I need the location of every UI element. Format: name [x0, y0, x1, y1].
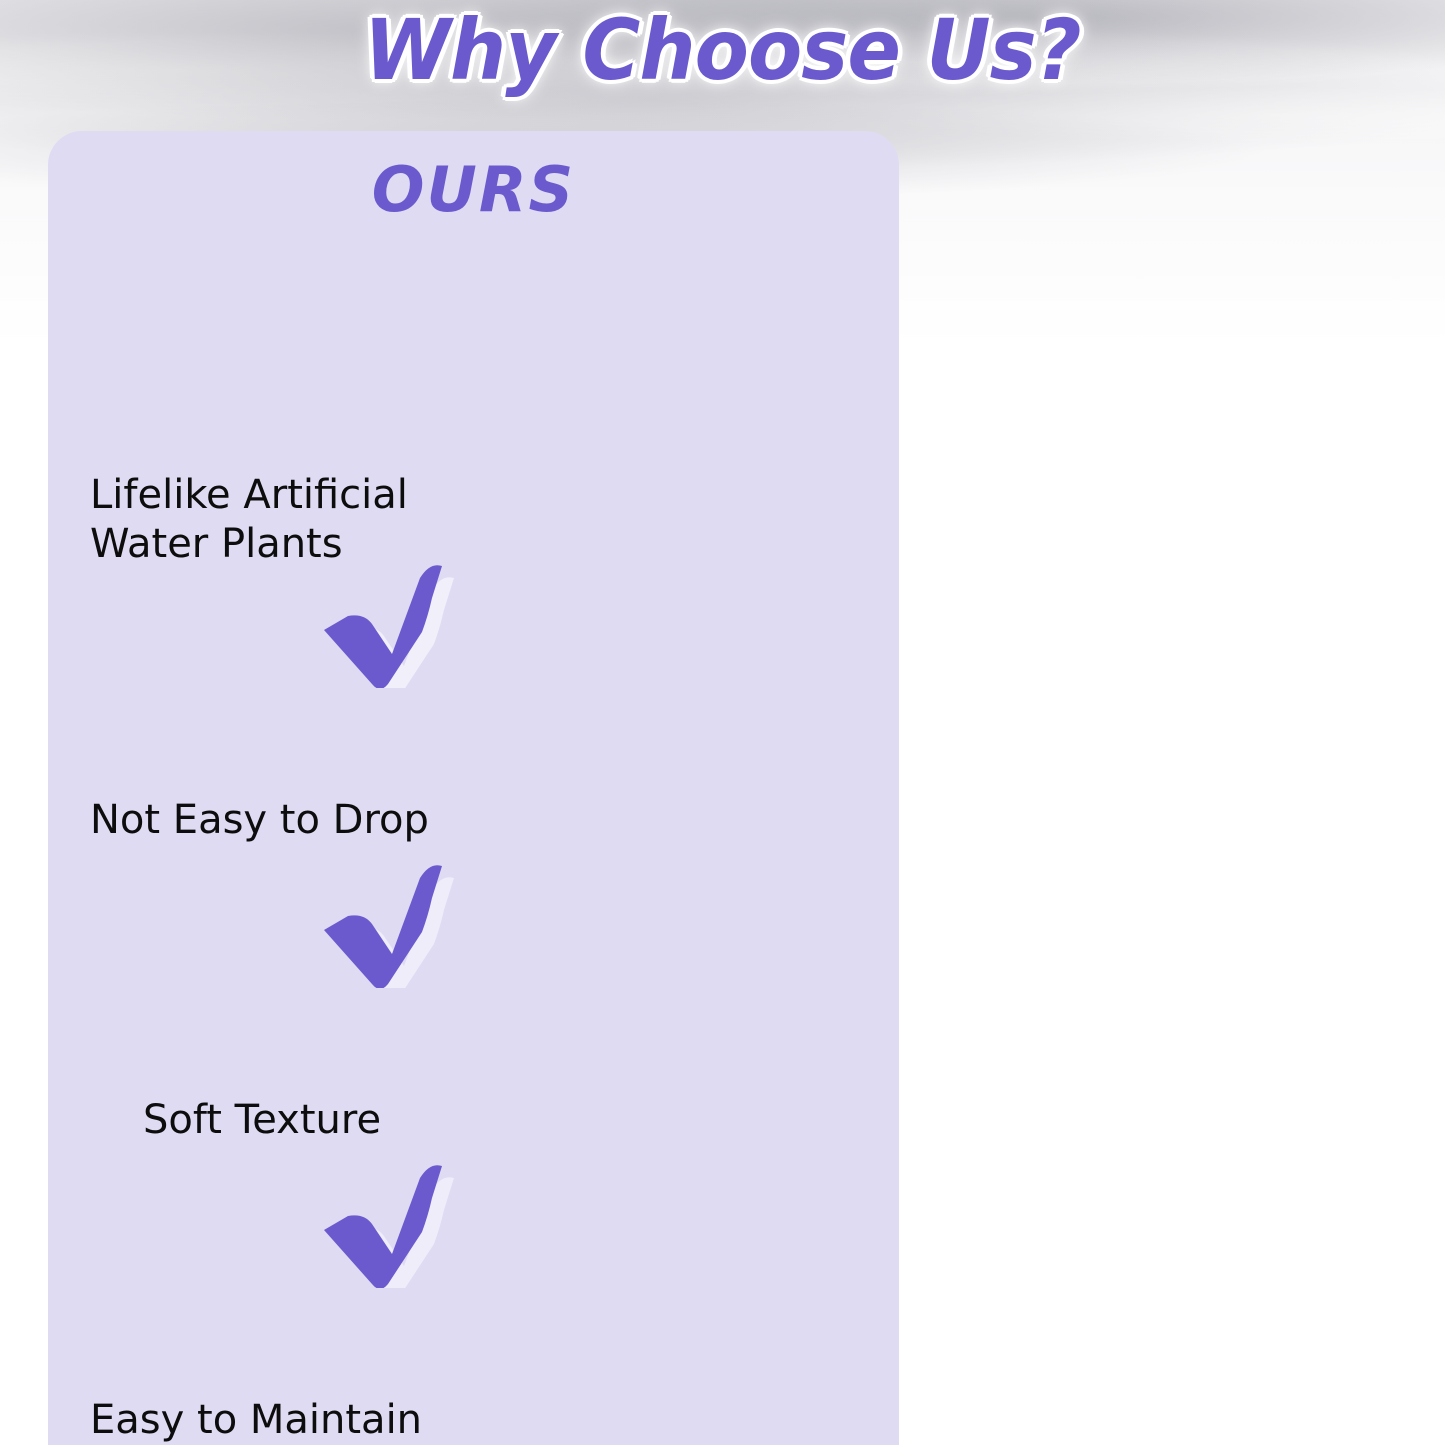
- others-item-label-0: Lack of Realism: [941, 710, 1207, 750]
- others-feature-row: Sharp Edges: [905, 1020, 1404, 1185]
- others-feature-row: Fragile and Easy to Drop: [905, 860, 1404, 1025]
- ours-item-label-line: Not Easy to Drop: [90, 797, 429, 843]
- ours-heading: OURS: [48, 153, 899, 226]
- ours-item-label-3: Easy to Maintain: [90, 1396, 490, 1445]
- others-feature-row: Lack of Realism: [905, 700, 1404, 865]
- page-title: Why Choose Us?: [364, 8, 1081, 92]
- cross-mark-icon: [1245, 1240, 1325, 1320]
- ours-item-label-2: Soft Texture: [143, 1096, 543, 1145]
- ours-feature-row: Soft Texture: [48, 936, 899, 1236]
- ours-feature-row: Lifelike Artificial Water Plants: [48, 336, 899, 636]
- ours-feature-row: Easy to Maintain: [48, 1236, 899, 1445]
- page-title-container: Why Choose Us?: [0, 8, 1445, 92]
- ours-panel: OURS Lifelike Artificial Water Plants No…: [48, 131, 899, 1445]
- cross-mark-icon: [1305, 915, 1385, 995]
- ours-item-label-0: Lifelike Artificial Water Plants: [90, 471, 490, 569]
- cross-mark-icon: [1223, 750, 1303, 830]
- others-panel-content: OTHERS Lack of Realism Fragile and Easy …: [905, 455, 1404, 1445]
- ours-item-label-line: Easy to Maintain: [90, 1397, 422, 1443]
- others-feature-row: Difficult to Maintain: [905, 1180, 1404, 1345]
- others-item-label-3: Difficult to Maintain: [941, 1200, 1275, 1240]
- others-heading: OTHERS: [905, 531, 1404, 604]
- ours-item-label-line: Soft Texture: [143, 1097, 381, 1143]
- cross-mark-icon: [1123, 1080, 1203, 1160]
- ours-feature-row: Not Easy to Drop: [48, 636, 899, 936]
- ours-item-label-1: Not Easy to Drop: [90, 796, 490, 845]
- others-item-label-2: Sharp Edges: [941, 1040, 1155, 1080]
- others-item-label-1: Fragile and Easy to Drop: [941, 875, 1358, 915]
- ours-item-label-line: Lifelike Artificial Water Plants: [90, 472, 408, 567]
